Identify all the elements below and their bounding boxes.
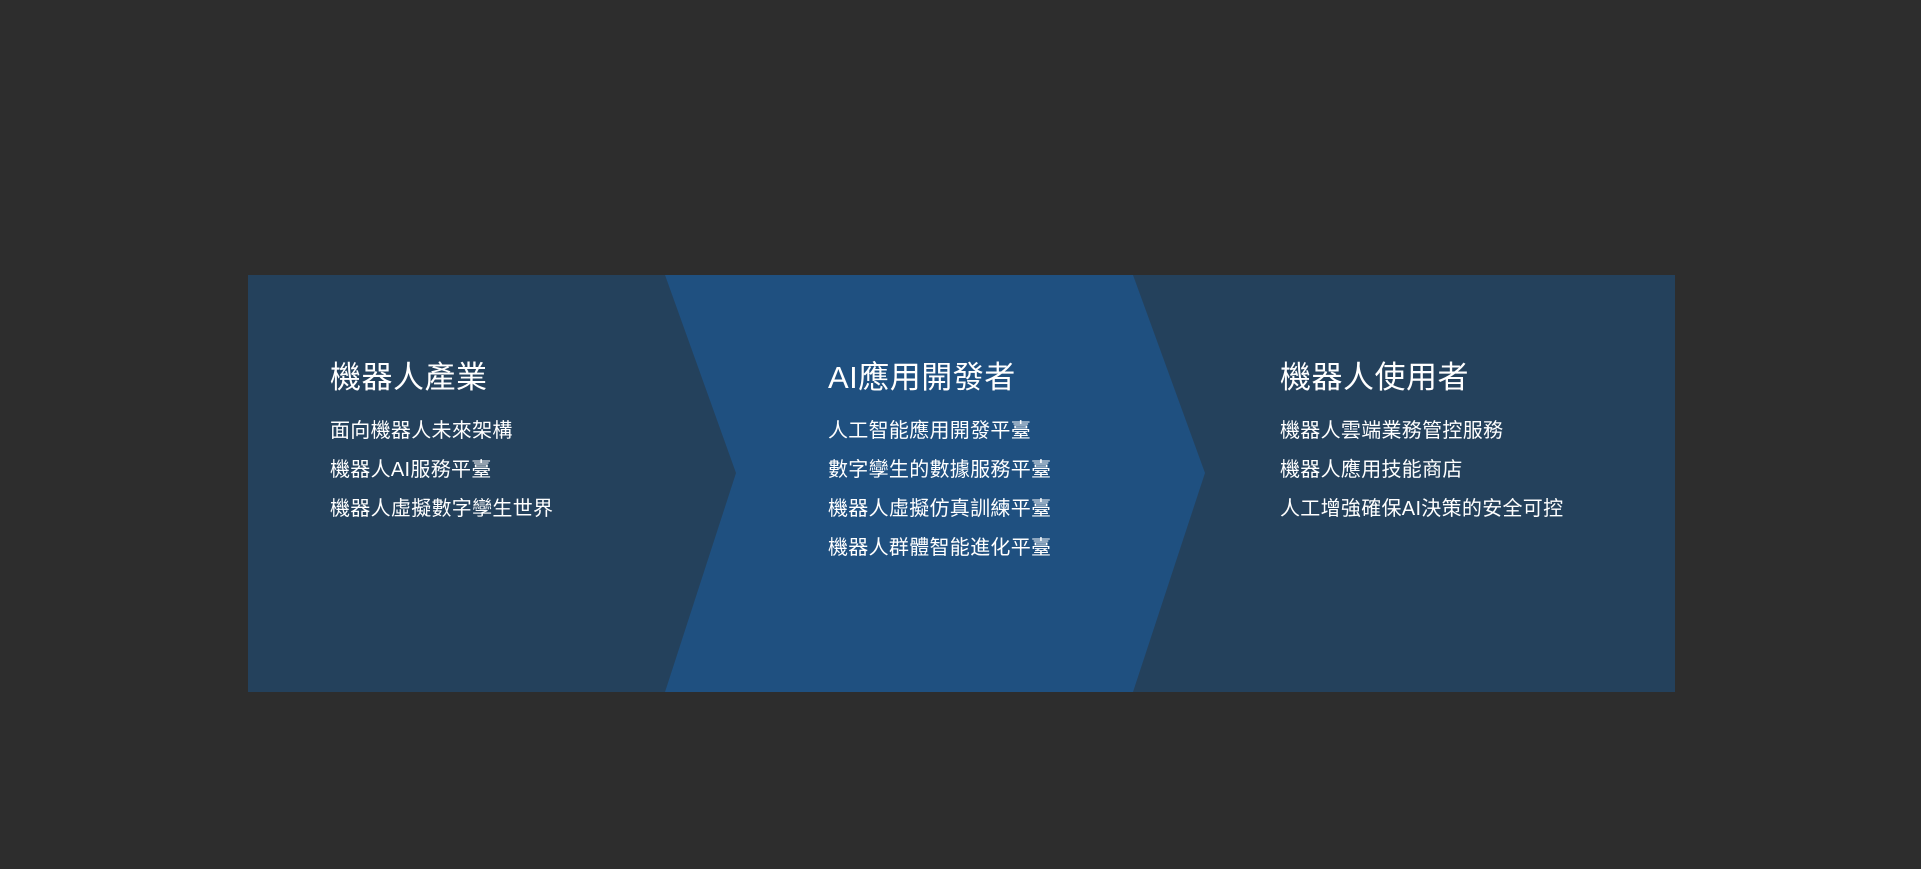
column-item-list: 面向機器人未來架構 機器人AI服務平臺 機器人虛擬數字孿生世界 (330, 421, 553, 538)
column-heading: AI應用開發者 (828, 362, 1016, 393)
column-item-list: 機器人雲端業務管控服務 機器人應用技能商店 人工增強確保AI決策的安全可控 (1280, 421, 1563, 538)
column-heading: 機器人使用者 (1280, 362, 1469, 393)
list-item: 機器人虛擬仿真訓練平臺 (828, 499, 1051, 519)
list-item: 面向機器人未來架構 (330, 421, 553, 441)
list-item: 機器人群體智能進化平臺 (828, 538, 1051, 558)
column-heading: 機器人產業 (330, 362, 488, 393)
list-item: 機器人應用技能商店 (1280, 460, 1563, 480)
slide-canvas: 機器人產業 面向機器人未來架構 機器人AI服務平臺 機器人虛擬數字孿生世界 AI… (0, 0, 1921, 869)
banner-panel: 機器人產業 面向機器人未來架構 機器人AI服務平臺 機器人虛擬數字孿生世界 AI… (248, 275, 1675, 692)
list-item: 數字孿生的數據服務平臺 (828, 460, 1051, 480)
column-item-list: 人工智能應用開發平臺 數字孿生的數據服務平臺 機器人虛擬仿真訓練平臺 機器人群體… (828, 421, 1051, 577)
list-item: 機器人AI服務平臺 (330, 460, 553, 480)
list-item: 人工智能應用開發平臺 (828, 421, 1051, 441)
list-item: 機器人虛擬數字孿生世界 (330, 499, 553, 519)
list-item: 人工增強確保AI決策的安全可控 (1280, 499, 1563, 519)
list-item: 機器人雲端業務管控服務 (1280, 421, 1563, 441)
